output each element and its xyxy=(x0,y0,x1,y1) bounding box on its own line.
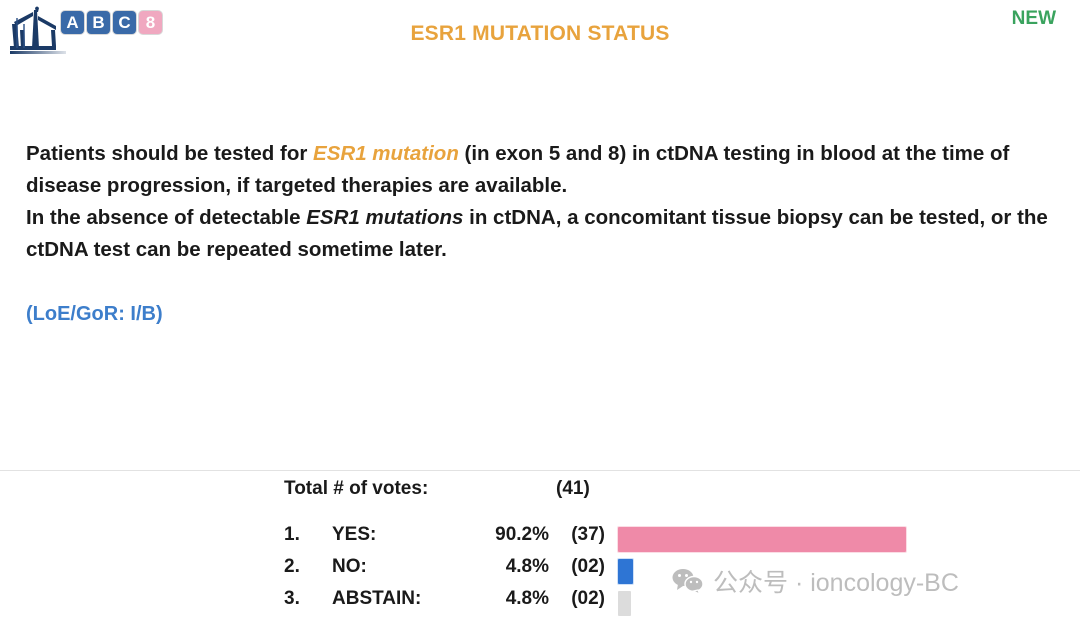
slide-root: A B C 8 ESR1 MUTATION STATUS NEW Patient… xyxy=(0,0,1080,629)
vote-count: (02) xyxy=(559,588,605,610)
paragraph-1: Patients should be tested for ESR1 mutat… xyxy=(26,138,1061,202)
p2-part1: In the absence of detectable xyxy=(26,206,306,229)
p1-part1: Patients should be tested for xyxy=(26,142,313,165)
vote-bar-abstain xyxy=(618,591,631,616)
vote-index: 3. xyxy=(284,588,310,610)
vote-percent: 4.8% xyxy=(444,588,549,610)
new-badge: NEW xyxy=(1012,8,1056,30)
watermark-text: 公众号 · ioncology-BC xyxy=(713,563,959,599)
loe-gor-label: (LoE/GoR: I/B) xyxy=(26,303,163,326)
vote-count: (37) xyxy=(559,524,605,546)
p1-emphasis: ESR1 mutation xyxy=(313,142,459,165)
section-divider xyxy=(0,470,1080,471)
total-votes-row: Total # of votes: (41) xyxy=(284,478,984,512)
recommendation-text: Patients should be tested for ESR1 mutat… xyxy=(26,138,1061,266)
vote-label: NO: xyxy=(332,556,367,578)
vote-index: 2. xyxy=(284,556,310,578)
total-votes-count: (41) xyxy=(556,478,590,500)
paragraph-2: In the absence of detectable ESR1 mutati… xyxy=(26,202,1061,266)
vote-bar-no xyxy=(618,559,633,584)
vote-label: ABSTAIN: xyxy=(332,588,421,610)
vote-bar-track xyxy=(618,527,978,552)
vote-percent: 4.8% xyxy=(444,556,549,578)
vote-bar-yes xyxy=(618,527,906,552)
vote-percent: 90.2% xyxy=(444,524,549,546)
total-votes-label: Total # of votes: xyxy=(284,478,428,500)
vote-row-yes: 1. YES: 90.2% (37) xyxy=(284,524,984,556)
p2-emphasis: ESR1 mutations xyxy=(306,206,463,229)
vote-label: YES: xyxy=(332,524,376,546)
vote-index: 1. xyxy=(284,524,310,546)
page-title: ESR1 MUTATION STATUS xyxy=(0,22,1080,46)
wechat-icon xyxy=(672,568,704,594)
wechat-watermark: 公众号 · ioncology-BC xyxy=(672,563,959,599)
vote-count: (02) xyxy=(559,556,605,578)
